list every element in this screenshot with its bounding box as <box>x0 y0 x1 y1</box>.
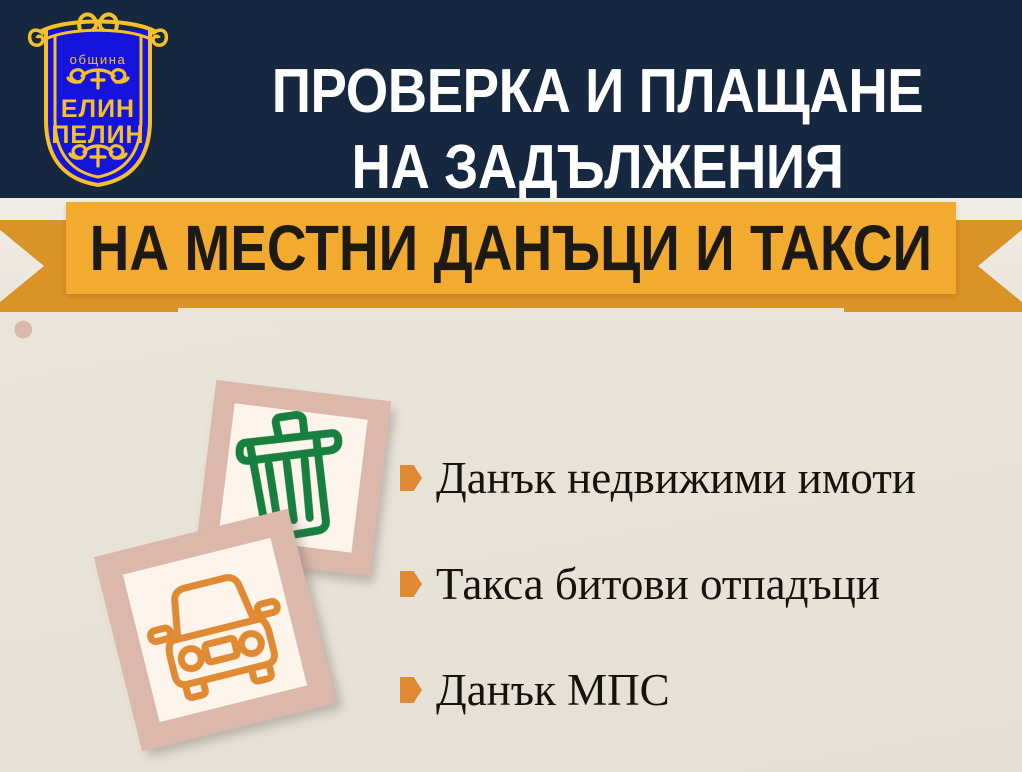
tax-type-list: Данък недвижими имоти Такса битови отпад… <box>400 425 1010 743</box>
stamp-card-house <box>13 303 234 524</box>
coat-of-arms-icon: община ЕЛИН ПЕЛИН <box>18 2 178 192</box>
arrow-bullet-icon <box>400 571 422 597</box>
ribbon-subtitle: НА МЕСТНИ ДАНЪЦИ И ТАКСИ <box>90 216 933 280</box>
page-title-line-1: ПРОВЕРКА И ПЛАЩАНЕ <box>272 57 924 126</box>
header-band: община ЕЛИН ПЕЛИН <box>0 0 1022 198</box>
poster-root: община ЕЛИН ПЕЛИН <box>0 0 1022 772</box>
list-item[interactable]: Данък МПС <box>400 637 1010 743</box>
stamp-collage <box>0 300 420 772</box>
list-item-label: Такса битови отпадъци <box>436 559 880 609</box>
list-item-label: Данък МПС <box>436 665 670 715</box>
list-item-label: Данък недвижими имоти <box>436 453 916 503</box>
page-title-line-2: НА ЗАДЪЛЖЕНИЯ <box>235 130 961 198</box>
svg-text:ЕЛИН: ЕЛИН <box>61 95 135 123</box>
arrow-bullet-icon <box>400 465 422 491</box>
list-item[interactable]: Такса битови отпадъци <box>400 531 1010 637</box>
ribbon-front-panel: НА МЕСТНИ ДАНЪЦИ И ТАКСИ <box>66 202 956 294</box>
svg-text:община: община <box>70 52 127 67</box>
list-item[interactable]: Данък недвижими имоти <box>400 425 1010 531</box>
page-title: ПРОВЕРКА И ПЛАЩАНЕ НА ЗАДЪЛЖЕНИЯ <box>235 54 961 198</box>
arrow-bullet-icon <box>400 677 422 703</box>
